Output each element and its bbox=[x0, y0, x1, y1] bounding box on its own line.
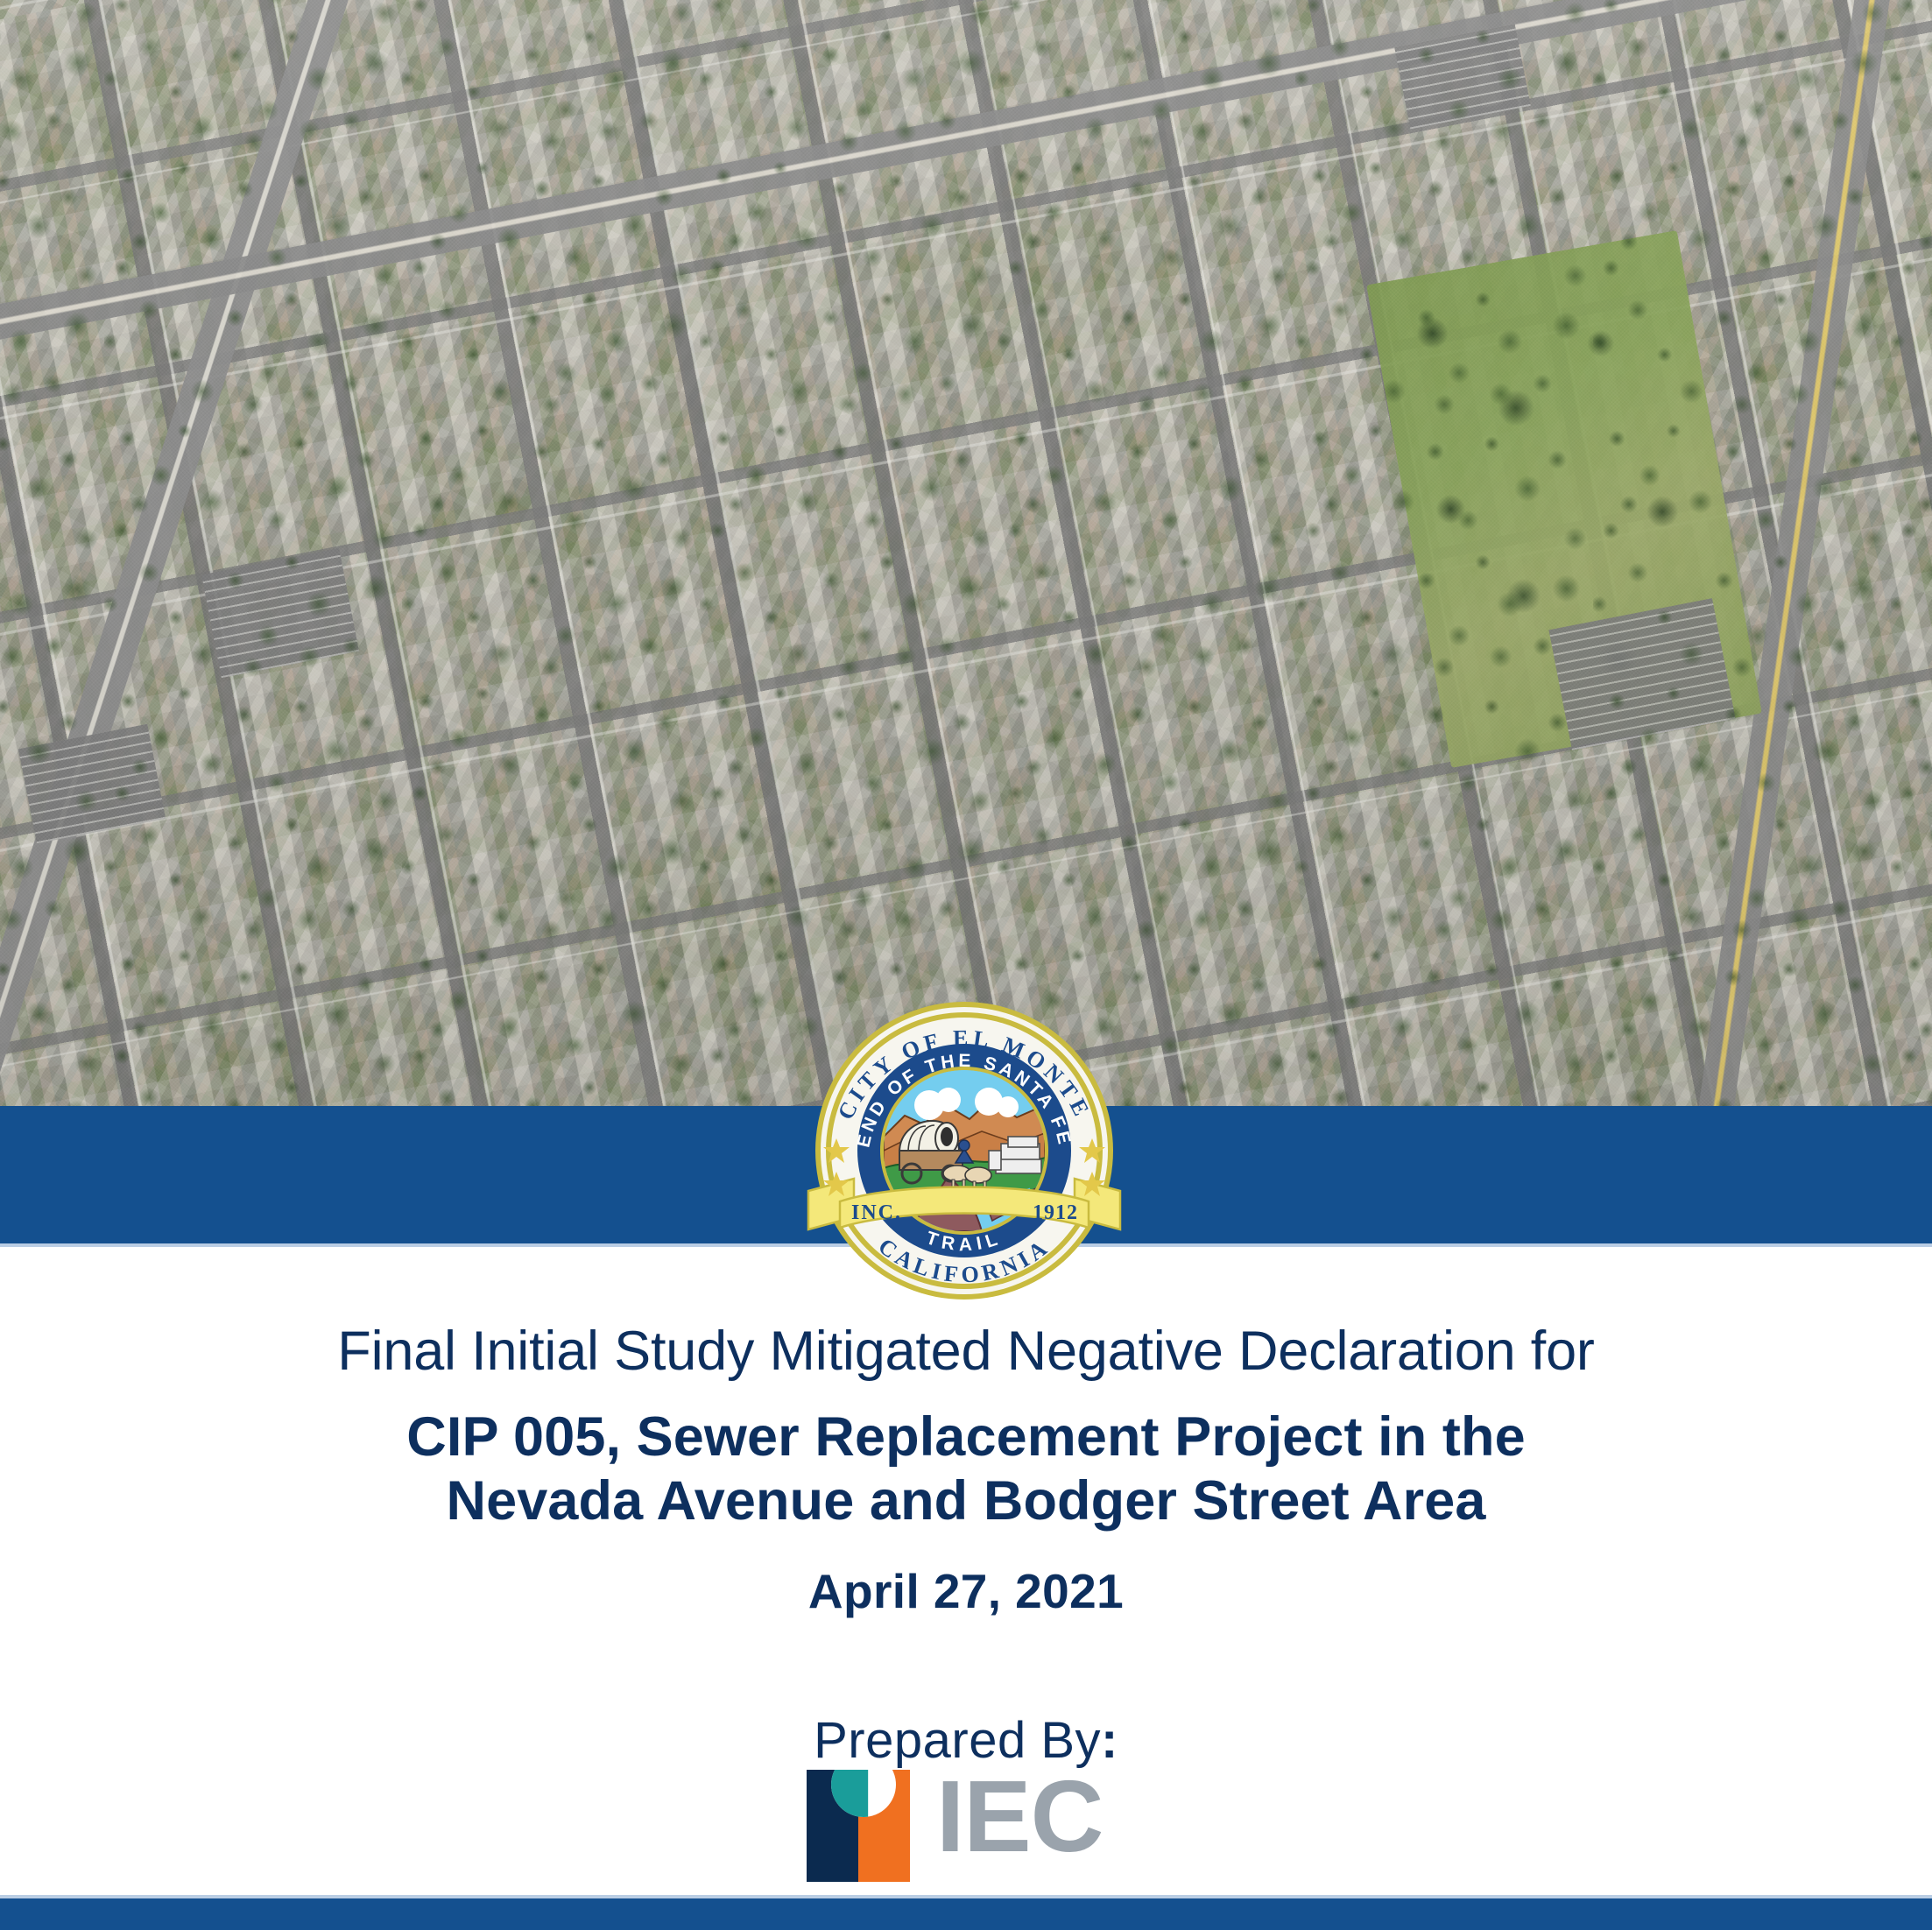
seal-banner-left-text: INC. bbox=[851, 1201, 902, 1224]
city-seal: CITY OF EL MONTE CALIFORNIA END OF THE S… bbox=[801, 988, 1127, 1314]
blue-banner-bottom bbox=[0, 1898, 1932, 1930]
prepared-by-colon: : bbox=[1101, 1712, 1118, 1769]
iec-wordmark: IEC bbox=[936, 1770, 1103, 1863]
aerial-grain-overlay bbox=[0, 0, 1932, 1108]
document-title: CIP 005, Sewer Replacement Project in th… bbox=[257, 1405, 1675, 1533]
aerial-canvas bbox=[0, 0, 1932, 1108]
aerial-photo bbox=[0, 0, 1932, 1108]
document-title-line-2: Nevada Avenue and Bodger Street Area bbox=[447, 1470, 1486, 1532]
iec-logo-mark-icon bbox=[807, 1770, 910, 1882]
title-block: Final Initial Study Mitigated Negative D… bbox=[0, 1321, 1932, 1619]
document-cover-page: CITY OF EL MONTE CALIFORNIA END OF THE S… bbox=[0, 0, 1932, 1930]
document-subtitle: Final Initial Study Mitigated Negative D… bbox=[0, 1321, 1932, 1383]
iec-logo: IEC bbox=[807, 1770, 1125, 1885]
document-title-line-1: CIP 005, Sewer Replacement Project in th… bbox=[406, 1406, 1525, 1468]
seal-banner-right-text: 1912 bbox=[1033, 1201, 1078, 1224]
document-date: April 27, 2021 bbox=[0, 1563, 1932, 1619]
